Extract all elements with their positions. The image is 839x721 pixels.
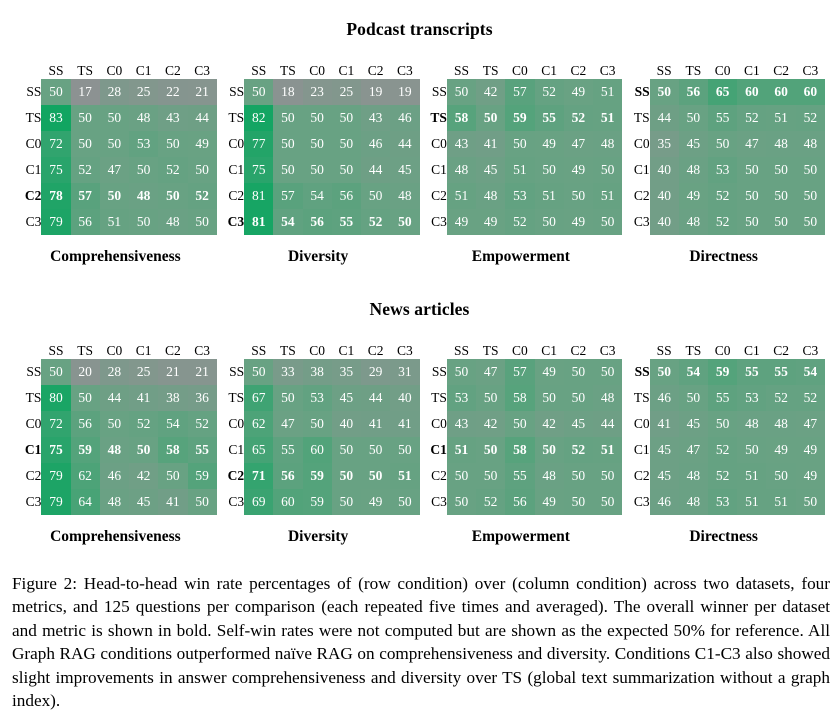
heatmap-cell-c3-ts: 60 <box>273 489 302 515</box>
row-label-ss: SS <box>420 79 447 105</box>
column-label-ss: SS <box>447 338 476 359</box>
row-label-c3: C3 <box>14 489 41 515</box>
heatmap-row: C2454852515049 <box>622 463 825 489</box>
heatmap-cell-c3-c0: 59 <box>303 489 332 515</box>
heatmap-cell-ss-c1: 52 <box>535 79 564 105</box>
heatmap-cell-c3-c2: 50 <box>564 489 593 515</box>
heatmap-cell-ts-c2: 50 <box>564 385 593 411</box>
heatmap-cell-c3-c0: 53 <box>708 489 737 515</box>
heatmap-cell-ss-c2: 60 <box>766 79 795 105</box>
metric-label-directness: Directness <box>689 248 758 266</box>
heatmap-cell-ts-c1: 52 <box>737 105 766 131</box>
heatmap-cell-c1-c0: 58 <box>505 437 534 463</box>
heatmap-cell-c1-c1: 50 <box>332 157 361 183</box>
heatmap-cell-c3-c2: 49 <box>564 209 593 235</box>
heatmap-cell-c1-c1: 50 <box>737 437 766 463</box>
heatmap-row: C1755050504445 <box>217 157 420 183</box>
column-label-ts: TS <box>71 58 100 79</box>
heatmap-cell-c0-c0: 50 <box>505 411 534 437</box>
heatmap-row: TS675053454440 <box>217 385 420 411</box>
heatmap-cell-c0-ss: 72 <box>41 411 70 437</box>
heatmap-cell-c0-c0: 50 <box>505 131 534 157</box>
heatmap-cell-c2-c3: 51 <box>390 463 419 489</box>
heatmap-cell-c2-c2: 50 <box>158 183 187 209</box>
heatmap-cell-ss-c0: 59 <box>708 359 737 385</box>
row-label-c1: C1 <box>217 157 244 183</box>
column-label-ss: SS <box>650 58 679 79</box>
heatmap-cell-c0-c0: 50 <box>100 411 129 437</box>
heatmap-cell-c1-c3: 50 <box>593 157 622 183</box>
row-label-ts: TS <box>217 105 244 131</box>
column-label-c0: C0 <box>303 58 332 79</box>
heatmap-row: C3464853515150 <box>622 489 825 515</box>
heatmap-cell-c3-c3: 50 <box>188 209 217 235</box>
heatmap-table: SSTSC0C1C2C3SS501823251919TS825050504346… <box>217 58 420 235</box>
heatmap-cell-c1-c1: 50 <box>535 157 564 183</box>
heatmap-row: C3404852505050 <box>622 209 825 235</box>
heatmap-cell-c0-ts: 50 <box>273 131 302 157</box>
heatmap-cell-c0-ts: 45 <box>679 131 708 157</box>
heatmap-cell-c0-c0: 50 <box>708 131 737 157</box>
heatmap-cell-c0-c0: 50 <box>100 131 129 157</box>
column-label-c1: C1 <box>535 58 564 79</box>
heatmap-cell-c3-ss: 50 <box>447 489 476 515</box>
heatmap-cell-c2-c3: 51 <box>593 183 622 209</box>
heatmap-cell-ts-c0: 55 <box>708 105 737 131</box>
heatmap-row: SS504757495050 <box>420 359 623 385</box>
heatmap-cell-ts-c3: 44 <box>188 105 217 131</box>
heatmap-row: C0624750404141 <box>217 411 420 437</box>
heatmap-cell-ss-c3: 54 <box>796 359 825 385</box>
heatmap-cell-c1-ts: 48 <box>679 157 708 183</box>
heatmap-cell-c1-c0: 53 <box>708 157 737 183</box>
heatmap-cell-ts-c3: 51 <box>593 105 622 131</box>
heatmap-row: SS502028252121 <box>14 359 217 385</box>
heatmap-cell-ts-ss: 58 <box>447 105 476 131</box>
heatmap-cell-c2-c2: 50 <box>766 463 795 489</box>
heatmap-cell-c0-c2: 41 <box>361 411 390 437</box>
heatmap-cell-ss-c3: 50 <box>593 359 622 385</box>
heatmap-table: SSTSC0C1C2C3SS502028252121TS805044413836… <box>14 338 217 515</box>
heatmap-cell-ts-c2: 43 <box>158 105 187 131</box>
figure-caption: Figure 2: Head-to-head win rate percenta… <box>12 572 830 712</box>
heatmap-cell-c2-c1: 50 <box>737 183 766 209</box>
dataset-title-news: News articles <box>0 299 839 320</box>
heatmap-cell-c2-c3: 49 <box>796 463 825 489</box>
heatmap-cell-c3-c2: 49 <box>361 489 390 515</box>
heatmap-panel-directness-news-articles: SSTSC0C1C2C3SS505459555554TS465055535252… <box>622 338 825 546</box>
metric-label-comprehensiveness: Comprehensiveness <box>50 248 181 266</box>
heatmap-cell-c2-c0: 50 <box>100 183 129 209</box>
heatmap-cell-c3-ss: 79 <box>41 489 70 515</box>
row-label-c2: C2 <box>217 183 244 209</box>
heatmap-cell-c0-c2: 47 <box>564 131 593 157</box>
column-label-ts: TS <box>476 58 505 79</box>
heatmap-cell-ts-ss: 80 <box>41 385 70 411</box>
heatmap-cell-c2-ts: 57 <box>273 183 302 209</box>
row-label-ts: TS <box>14 105 41 131</box>
heatmap-cell-ts-c1: 50 <box>332 105 361 131</box>
heatmap-cell-ts-ss: 82 <box>244 105 273 131</box>
heatmap-cell-c2-ts: 62 <box>71 463 100 489</box>
column-label-c2: C2 <box>564 338 593 359</box>
row-label-ss: SS <box>217 359 244 385</box>
heatmap-cell-c3-ss: 69 <box>244 489 273 515</box>
heatmap-cell-c1-c1: 50 <box>129 437 158 463</box>
heatmap-cell-c2-ss: 51 <box>447 183 476 209</box>
row-label-c1: C1 <box>14 157 41 183</box>
heatmap-cell-c3-c3: 50 <box>188 489 217 515</box>
heatmap-cell-ts-c0: 59 <box>505 105 534 131</box>
heatmap-cell-ss-c3: 60 <box>796 79 825 105</box>
row-label-c2: C2 <box>420 463 447 489</box>
column-label-ss: SS <box>41 338 70 359</box>
heatmap-cell-ts-c1: 45 <box>332 385 361 411</box>
heatmap-row: C0775050504644 <box>217 131 420 157</box>
heatmap-corner-cell <box>14 58 41 79</box>
heatmap-row: C1484551504950 <box>420 157 623 183</box>
heatmap-cell-c0-c2: 48 <box>766 131 795 157</box>
column-label-c3: C3 <box>593 338 622 359</box>
heatmap-corner-cell <box>14 338 41 359</box>
heatmap-row: SS504257524951 <box>420 79 623 105</box>
heatmap-cell-c2-ss: 79 <box>41 463 70 489</box>
heatmap-cell-c3-ts: 54 <box>273 209 302 235</box>
heatmap-cell-c2-ss: 40 <box>650 183 679 209</box>
heatmap-cell-ss-c2: 49 <box>564 79 593 105</box>
heatmap-table: SSTSC0C1C2C3SS504257524951TS585059555251… <box>420 58 623 235</box>
heatmap-cell-ss-c1: 35 <box>332 359 361 385</box>
heatmap-cell-ss-c1: 60 <box>737 79 766 105</box>
heatmap-cell-ts-ts: 50 <box>679 105 708 131</box>
heatmap-corner-cell <box>217 58 244 79</box>
column-label-c2: C2 <box>766 338 795 359</box>
heatmap-cell-ts-ts: 50 <box>273 105 302 131</box>
heatmap-cell-ss-c3: 21 <box>188 359 217 385</box>
heatmap-cell-c1-c2: 52 <box>158 157 187 183</box>
heatmap-column-header-row: SSTSC0C1C2C3 <box>420 58 623 79</box>
heatmap-cell-c3-ts: 49 <box>476 209 505 235</box>
column-label-c2: C2 <box>158 338 187 359</box>
heatmap-cell-ts-c3: 52 <box>796 105 825 131</box>
heatmap-row: SS501728252221 <box>14 79 217 105</box>
row-label-ts: TS <box>420 105 447 131</box>
heatmap-row: C3796448454150 <box>14 489 217 515</box>
heatmap-cell-ts-c1: 41 <box>129 385 158 411</box>
column-label-c1: C1 <box>332 338 361 359</box>
column-label-ss: SS <box>41 58 70 79</box>
heatmap-cell-ts-ts: 50 <box>476 385 505 411</box>
heatmap-cell-ss-c2: 55 <box>766 359 795 385</box>
heatmap-cell-c0-c2: 50 <box>158 131 187 157</box>
heatmap-panel-empowerment-news-articles: SSTSC0C1C2C3SS504757495050TS535058505048… <box>420 338 623 546</box>
column-label-ts: TS <box>71 338 100 359</box>
heatmap-cell-c1-ss: 75 <box>41 437 70 463</box>
heatmap-corner-cell <box>622 338 649 359</box>
metric-label-diversity: Diversity <box>288 528 348 546</box>
heatmap-cell-c1-ss: 51 <box>447 437 476 463</box>
heatmap-row: C0414550484847 <box>622 411 825 437</box>
heatmap-cell-c1-c0: 47 <box>100 157 129 183</box>
heatmap-cell-ts-ts: 50 <box>71 385 100 411</box>
heatmap-cell-c2-c2: 50 <box>361 463 390 489</box>
heatmap-cell-ss-ts: 17 <box>71 79 100 105</box>
column-label-c3: C3 <box>796 338 825 359</box>
heatmap-row: C2785750485052 <box>14 183 217 209</box>
heatmap-cell-c3-c1: 50 <box>332 489 361 515</box>
heatmap-cell-c2-c3: 50 <box>593 463 622 489</box>
heatmap-cell-c0-c3: 41 <box>390 411 419 437</box>
heatmap-cell-c3-c3: 50 <box>796 489 825 515</box>
heatmap-row: C1655560505050 <box>217 437 420 463</box>
heatmap-cell-c1-ts: 55 <box>273 437 302 463</box>
row-label-c3: C3 <box>622 209 649 235</box>
heatmap-row: SS501823251919 <box>217 79 420 105</box>
heatmap-cell-c1-c3: 45 <box>390 157 419 183</box>
heatmap-column-header-row: SSTSC0C1C2C3 <box>14 338 217 359</box>
heatmap-cell-c1-c3: 49 <box>796 437 825 463</box>
column-label-c3: C3 <box>188 338 217 359</box>
row-label-c0: C0 <box>420 131 447 157</box>
heatmap-table: SSTSC0C1C2C3SS505665606060TS445055525152… <box>622 58 825 235</box>
heatmap-cell-c3-c3: 50 <box>796 209 825 235</box>
heatmap-cell-c3-c1: 50 <box>737 209 766 235</box>
heatmap-cell-c3-c1: 45 <box>129 489 158 515</box>
metric-label-empowerment: Empowerment <box>472 528 570 546</box>
heatmap-cell-ts-c2: 43 <box>361 105 390 131</box>
heatmap-cell-ss-ss: 50 <box>41 79 70 105</box>
heatmap-cell-c2-ts: 57 <box>71 183 100 209</box>
heatmap-panel-diversity-news-articles: SSTSC0C1C2C3SS503338352931TS675053454440… <box>217 338 420 546</box>
heatmap-column-header-row: SSTSC0C1C2C3 <box>217 338 420 359</box>
heatmap-corner-cell <box>217 338 244 359</box>
heatmap-cell-ts-ss: 53 <box>447 385 476 411</box>
heatmap-cell-c3-ss: 79 <box>41 209 70 235</box>
heatmap-cell-c0-c3: 44 <box>593 411 622 437</box>
heatmap-cell-c2-c1: 50 <box>332 463 361 489</box>
heatmap-cell-ss-ts: 54 <box>679 359 708 385</box>
heatmap-cell-c3-c1: 50 <box>535 209 564 235</box>
heatmap-cell-ts-ts: 50 <box>71 105 100 131</box>
heatmap-cell-c3-c1: 51 <box>737 489 766 515</box>
heatmap-cell-c0-c0: 50 <box>708 411 737 437</box>
column-label-ss: SS <box>244 338 273 359</box>
heatmap-cell-c2-c1: 51 <box>737 463 766 489</box>
heatmap-cell-ss-c0: 38 <box>303 359 332 385</box>
column-label-c1: C1 <box>737 58 766 79</box>
heatmap-cell-c1-c1: 50 <box>129 157 158 183</box>
column-label-c0: C0 <box>505 58 534 79</box>
heatmap-cell-c0-ss: 62 <box>244 411 273 437</box>
heatmap-cell-c2-c1: 42 <box>129 463 158 489</box>
heatmap-row: C1755948505855 <box>14 437 217 463</box>
heatmap-cell-ss-ss: 50 <box>244 79 273 105</box>
heatmap-cell-ss-c0: 57 <box>505 79 534 105</box>
row-label-c2: C2 <box>217 463 244 489</box>
row-label-ss: SS <box>420 359 447 385</box>
column-label-c2: C2 <box>766 58 795 79</box>
heatmap-cell-c1-ss: 45 <box>650 437 679 463</box>
heatmap-cell-c3-c0: 48 <box>100 489 129 515</box>
heatmap-cell-ts-c0: 55 <box>708 385 737 411</box>
heatmap-cell-c2-c2: 50 <box>564 183 593 209</box>
heatmap-row: TS585059555251 <box>420 105 623 131</box>
heatmap-cell-c3-c3: 50 <box>593 209 622 235</box>
row-label-c1: C1 <box>622 157 649 183</box>
heatmap-cell-ss-c0: 65 <box>708 79 737 105</box>
heatmap-cell-ss-ss: 50 <box>650 359 679 385</box>
heatmap-cell-c1-c3: 55 <box>188 437 217 463</box>
heatmap-cell-c3-c3: 50 <box>390 489 419 515</box>
heatmap-cell-c0-c1: 48 <box>737 411 766 437</box>
heatmap-cell-ts-ss: 44 <box>650 105 679 131</box>
heatmap-cell-c0-ss: 43 <box>447 131 476 157</box>
heatmap-cell-ss-c0: 28 <box>100 359 129 385</box>
column-label-c2: C2 <box>564 58 593 79</box>
heatmap-cell-c2-c0: 54 <box>303 183 332 209</box>
heatmap-cell-c3-c3: 50 <box>390 209 419 235</box>
row-label-ss: SS <box>622 359 649 385</box>
row-label-c0: C0 <box>217 131 244 157</box>
heatmap-cell-c2-c3: 48 <box>390 183 419 209</box>
heatmap-cell-c1-c0: 60 <box>303 437 332 463</box>
heatmap-cell-ts-c0: 50 <box>303 105 332 131</box>
heatmap-cell-c0-c3: 49 <box>188 131 217 157</box>
heatmap-cell-ts-c1: 48 <box>129 105 158 131</box>
heatmap-cell-c0-c3: 52 <box>188 411 217 437</box>
row-label-c0: C0 <box>622 131 649 157</box>
heatmap-cell-c0-ss: 43 <box>447 411 476 437</box>
column-label-ss: SS <box>447 58 476 79</box>
row-label-c1: C1 <box>420 437 447 463</box>
heatmap-row: C3696059504950 <box>217 489 420 515</box>
heatmap-cell-c1-ts: 50 <box>476 437 505 463</box>
heatmap-cell-ss-c0: 28 <box>100 79 129 105</box>
heatmap-cell-c3-c0: 56 <box>303 209 332 235</box>
heatmap-cell-c3-c1: 50 <box>129 209 158 235</box>
heatmap-cell-c0-c1: 47 <box>737 131 766 157</box>
heatmap-cell-c2-c0: 46 <box>100 463 129 489</box>
row-label-c3: C3 <box>622 489 649 515</box>
heatmap-cell-c2-ts: 56 <box>273 463 302 489</box>
heatmap-row: C0434150494748 <box>420 131 623 157</box>
heatmap-cell-c2-ss: 81 <box>244 183 273 209</box>
heatmap-corner-cell <box>420 58 447 79</box>
heatmap-cell-ss-c2: 22 <box>158 79 187 105</box>
heatmap-cell-c2-c0: 52 <box>708 183 737 209</box>
column-label-ts: TS <box>273 338 302 359</box>
heatmap-cell-c1-c1: 50 <box>535 437 564 463</box>
row-label-c2: C2 <box>420 183 447 209</box>
heatmap-row: TS835050484344 <box>14 105 217 131</box>
row-label-c0: C0 <box>217 411 244 437</box>
heatmap-cell-ts-c3: 36 <box>188 385 217 411</box>
heatmap-cell-ss-ss: 50 <box>41 359 70 385</box>
column-label-ss: SS <box>650 338 679 359</box>
heatmap-cell-c0-ss: 35 <box>650 131 679 157</box>
column-label-ts: TS <box>273 58 302 79</box>
row-label-c3: C3 <box>217 489 244 515</box>
column-label-c0: C0 <box>708 338 737 359</box>
column-label-c1: C1 <box>535 338 564 359</box>
heatmap-cell-c2-ss: 78 <box>41 183 70 209</box>
heatmap-panel-empowerment-podcast-transcripts: SSTSC0C1C2C3SS504257524951TS585059555251… <box>420 58 623 266</box>
row-label-c2: C2 <box>14 183 41 209</box>
heatmap-cell-c3-c2: 52 <box>361 209 390 235</box>
heatmap-cell-c0-ts: 42 <box>476 411 505 437</box>
heatmap-cell-c2-c1: 51 <box>535 183 564 209</box>
heatmap-cell-ss-c0: 23 <box>303 79 332 105</box>
heatmap-row: SS505459555554 <box>622 359 825 385</box>
heatmap-cell-c0-c1: 53 <box>129 131 158 157</box>
heatmap-cell-ts-ts: 50 <box>476 105 505 131</box>
metric-label-diversity: Diversity <box>288 248 348 266</box>
heatmap-row: SS503338352931 <box>217 359 420 385</box>
heatmap-cell-c1-c3: 51 <box>593 437 622 463</box>
heatmap-row: C3494952504950 <box>420 209 623 235</box>
heatmap-cell-c2-ss: 71 <box>244 463 273 489</box>
heatmap-cell-c3-ss: 46 <box>650 489 679 515</box>
heatmap-cell-ss-c1: 25 <box>332 79 361 105</box>
heatmap-cell-c2-c2: 50 <box>158 463 187 489</box>
row-label-c3: C3 <box>217 209 244 235</box>
metric-label-comprehensiveness: Comprehensiveness <box>50 528 181 546</box>
row-label-c3: C3 <box>420 489 447 515</box>
heatmap-cell-c0-c2: 45 <box>564 411 593 437</box>
heatmap-row: C0434250424544 <box>420 411 623 437</box>
heatmap-cell-c0-c1: 49 <box>535 131 564 157</box>
heatmap-cell-c0-ts: 45 <box>679 411 708 437</box>
heatmap-panel-directness-podcast-transcripts: SSTSC0C1C2C3SS505665606060TS445055525152… <box>622 58 825 266</box>
heatmap-cell-c3-c3: 50 <box>593 489 622 515</box>
heatmap-cell-c2-c0: 52 <box>708 463 737 489</box>
heatmap-cell-c1-ss: 40 <box>650 157 679 183</box>
heatmap-cell-c1-c0: 51 <box>505 157 534 183</box>
column-label-c1: C1 <box>332 58 361 79</box>
heatmap-cell-c0-c1: 40 <box>332 411 361 437</box>
heatmap-row: C3505256495050 <box>420 489 623 515</box>
heatmap-cell-ss-ss: 50 <box>447 79 476 105</box>
heatmap-cell-c1-ts: 47 <box>679 437 708 463</box>
heatmap-row: C2505055485050 <box>420 463 623 489</box>
row-label-ss: SS <box>14 79 41 105</box>
heatmap-cell-c1-ss: 75 <box>244 157 273 183</box>
heatmap-cell-c1-ss: 75 <box>41 157 70 183</box>
column-label-c3: C3 <box>796 58 825 79</box>
heatmap-cell-c3-c1: 49 <box>535 489 564 515</box>
heatmap-cell-c1-ts: 45 <box>476 157 505 183</box>
column-label-ss: SS <box>244 58 273 79</box>
column-label-c2: C2 <box>361 58 390 79</box>
heatmap-cell-c3-ts: 52 <box>476 489 505 515</box>
column-label-c0: C0 <box>303 338 332 359</box>
heatmap-cell-c1-c2: 49 <box>564 157 593 183</box>
heatmap-cell-c2-c1: 48 <box>129 183 158 209</box>
heatmap-cell-c0-ts: 56 <box>71 411 100 437</box>
heatmap-cell-c2-c1: 48 <box>535 463 564 489</box>
heatmap-cell-ss-ts: 33 <box>273 359 302 385</box>
row-label-ss: SS <box>14 359 41 385</box>
heatmap-table: SSTSC0C1C2C3SS505459555554TS465055535252… <box>622 338 825 515</box>
heatmap-cell-c1-c0: 52 <box>708 437 737 463</box>
column-label-c2: C2 <box>158 58 187 79</box>
heatmap-row: C2514853515051 <box>420 183 623 209</box>
heatmap-cell-c1-ss: 65 <box>244 437 273 463</box>
row-label-c2: C2 <box>622 183 649 209</box>
heatmap-cell-c2-ts: 48 <box>679 463 708 489</box>
heatmap-cell-ts-c2: 51 <box>766 105 795 131</box>
heatmap-cell-ts-ss: 83 <box>41 105 70 131</box>
